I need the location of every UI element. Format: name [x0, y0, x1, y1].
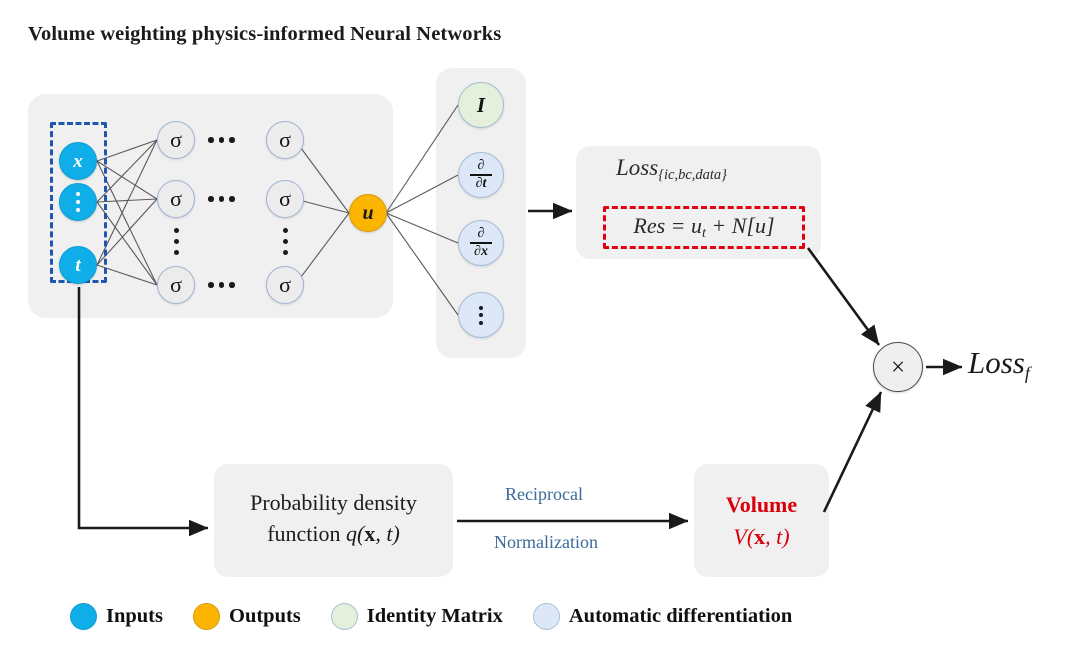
edge-label-reciprocal: Reciprocal — [505, 484, 583, 505]
multiply-node[interactable]: × — [873, 342, 923, 392]
volume-eq-prefix: V( — [733, 524, 754, 549]
legend-item-inputs: Inputs — [70, 603, 163, 630]
partial-dx-numerator: ∂ — [476, 227, 487, 241]
total-loss-subscript: f — [1025, 363, 1030, 383]
volume-arg-x: x — [754, 524, 765, 549]
hidden1-node-1[interactable]: σ — [157, 121, 195, 159]
residual-rhs: + N[u] — [706, 213, 775, 238]
pdf-box-text: Probability density function q(x, t) — [214, 487, 453, 549]
output-node-u-label: u — [362, 203, 373, 223]
legend: Inputs Outputs Identity Matrix Automatic… — [70, 603, 822, 630]
partial-dx-node[interactable]: ∂ ∂x — [458, 220, 504, 266]
more-derivatives-node — [458, 292, 504, 338]
diagram-canvas: Volume weighting physics-informed Neural… — [0, 0, 1077, 656]
partial-dt-node[interactable]: ∂ ∂t — [458, 152, 504, 198]
legend-swatch-inputs — [70, 603, 97, 630]
multiply-operator-label: × — [891, 355, 905, 380]
vertical-dots-icon — [479, 306, 483, 325]
sigma-label: σ — [170, 129, 182, 151]
identity-matrix-node[interactable]: I — [458, 82, 504, 128]
hidden1-node-2[interactable]: σ — [157, 180, 195, 218]
pdf-arg-t: , t) — [375, 521, 399, 546]
residual-lhs: Res = u — [633, 213, 702, 238]
hidden2-column-ellipsis-icon — [283, 228, 288, 255]
hidden2-node-3[interactable]: σ — [266, 266, 304, 304]
legend-item-outputs: Outputs — [193, 603, 301, 630]
volume-box-text: Volume V(x, t) — [694, 489, 829, 553]
residual-equation: Res = ut + N[u] — [633, 213, 774, 242]
legend-label-identity-matrix: Identity Matrix — [367, 605, 503, 628]
volume-equation: V(x, t) — [694, 521, 829, 553]
legend-swatch-identity-matrix — [331, 603, 358, 630]
sigma-label: σ — [279, 188, 291, 210]
hidden1-column-ellipsis-icon — [174, 228, 179, 255]
hidden2-node-1[interactable]: σ — [266, 121, 304, 159]
sigma-label: σ — [170, 188, 182, 210]
loss-title: Loss{ic,bc,data} — [616, 155, 727, 184]
hidden1-node-3[interactable]: σ — [157, 266, 195, 304]
sigma-label: σ — [279, 129, 291, 151]
arrow-residual-to-multiply — [808, 248, 879, 345]
layer-ellipsis-row2-icon — [208, 196, 235, 202]
input-node-x[interactable]: x — [59, 142, 97, 180]
total-loss-label: Lossf — [968, 345, 1030, 384]
partial-dt-denominator: ∂t — [474, 177, 489, 191]
pdf-line-2: function q(x, t) — [214, 518, 453, 549]
pdf-function-name: q( — [346, 521, 364, 546]
input-node-t[interactable]: t — [59, 246, 97, 284]
layer-ellipsis-row3-icon — [208, 282, 235, 288]
hidden2-node-2[interactable]: σ — [266, 180, 304, 218]
legend-item-automatic-differentiation: Automatic differentiation — [533, 603, 792, 630]
output-node-u[interactable]: u — [349, 194, 387, 232]
legend-swatch-outputs — [193, 603, 220, 630]
residual-dashed-box: Res = ut + N[u] — [603, 206, 805, 249]
edge-label-normalization: Normalization — [494, 532, 598, 553]
arrow-inputs-to-pdf — [79, 287, 208, 528]
edges-hidden2-to-output — [295, 140, 349, 285]
legend-label-outputs: Outputs — [229, 605, 301, 628]
identity-label: I — [477, 95, 485, 116]
loss-title-subscript: {ic,bc,data} — [658, 167, 727, 183]
pdf-line-2-prefix: function — [267, 521, 346, 546]
partial-dt-fraction: ∂ ∂t — [470, 159, 492, 191]
loss-title-text: Loss — [616, 155, 658, 180]
input-node-t-label: t — [75, 256, 80, 275]
input-node-ellipsis — [59, 183, 97, 221]
sigma-label: σ — [170, 274, 182, 296]
partial-dt-numerator: ∂ — [476, 159, 487, 173]
layer-ellipsis-row1-icon — [208, 137, 235, 143]
volume-arg-t: , t) — [765, 524, 789, 549]
arrow-volume-to-multiply — [824, 392, 881, 512]
legend-swatch-automatic-differentiation — [533, 603, 560, 630]
total-loss-text: Loss — [968, 345, 1025, 380]
edges-output-to-derivatives — [386, 105, 458, 315]
legend-label-automatic-differentiation: Automatic differentiation — [569, 605, 792, 628]
input-node-x-label: x — [73, 152, 83, 171]
legend-item-identity-matrix: Identity Matrix — [331, 603, 503, 630]
pdf-line-1: Probability density — [214, 487, 453, 518]
partial-dx-denominator: ∂x — [472, 245, 490, 259]
vertical-dots-icon — [76, 192, 81, 213]
volume-label: Volume — [694, 489, 829, 521]
pdf-arg-x: x — [364, 521, 375, 546]
sigma-label: σ — [279, 274, 291, 296]
connector-layer — [0, 0, 1077, 656]
legend-label-inputs: Inputs — [106, 605, 163, 628]
partial-dx-fraction: ∂ ∂x — [470, 227, 492, 259]
